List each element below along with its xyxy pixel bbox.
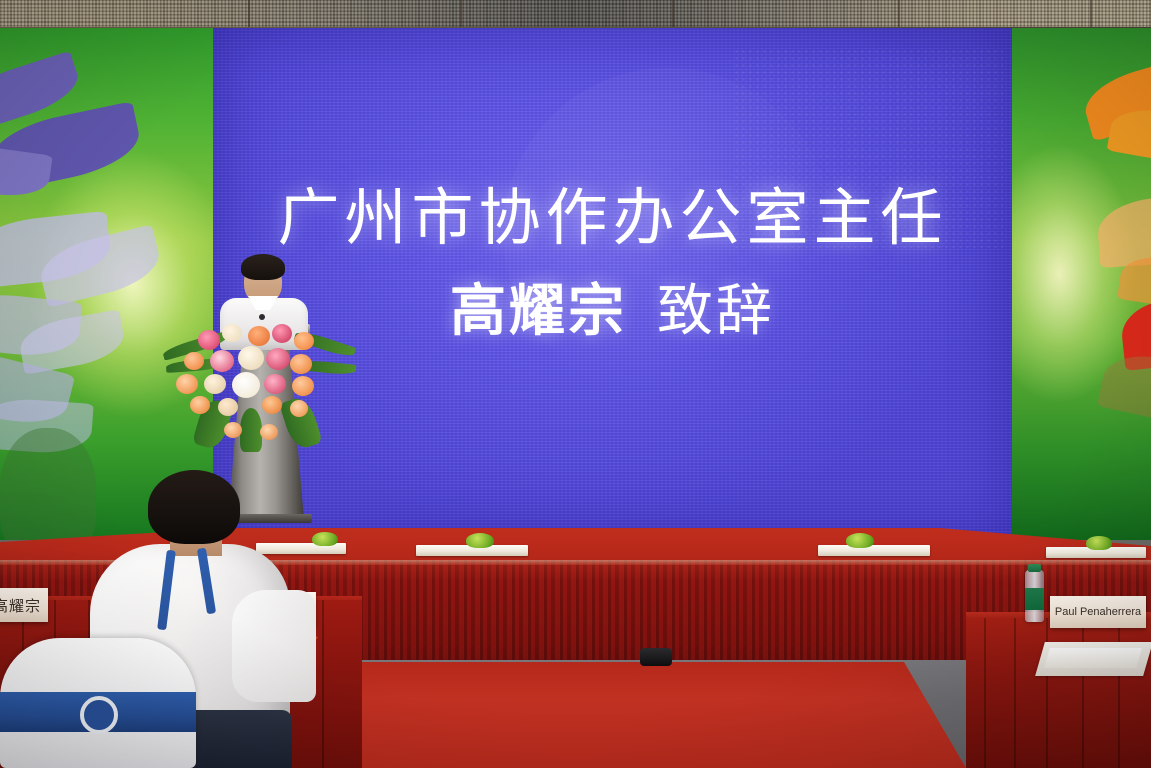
stage-plant — [466, 533, 494, 548]
speaker-hair — [241, 254, 285, 280]
name-card-right-text: Paul Penaherrera — [1055, 606, 1141, 618]
stage-plant — [846, 533, 874, 548]
backdrop-panel-right — [1010, 28, 1151, 540]
stage-floor-object — [640, 648, 672, 666]
led-screen: 广州市协作办公室主任 高耀宗致辞 — [213, 28, 1012, 538]
water-bottle — [1025, 570, 1044, 622]
chair-sash-ring — [80, 696, 118, 734]
name-card-right: Paul Penaherrera — [1050, 596, 1146, 628]
name-card-left: 高耀宗 — [0, 588, 48, 622]
seated-attendee-hair — [148, 470, 240, 544]
foreground-table-right — [966, 618, 1151, 768]
name-card-left-text: 高耀宗 — [0, 595, 41, 616]
floral-arrangement — [162, 316, 352, 448]
stage-placard — [818, 545, 930, 556]
screen-title-text: 广州市协作办公室主任 — [213, 188, 1012, 250]
seated-attendee-arm — [232, 590, 316, 702]
screen-action-text: 致辞 — [657, 279, 775, 342]
bottle-label — [1025, 588, 1044, 610]
seated-attendee — [82, 470, 332, 768]
table-papers-right-sheet — [1044, 648, 1142, 668]
conference-stage-photo: 广州市协作办公室主任 高耀宗致辞 — [0, 0, 1151, 768]
screen-speaker-name: 高耀宗 — [450, 279, 627, 342]
ceiling-acoustic-panel — [0, 0, 1151, 30]
stage-plant — [1086, 536, 1112, 550]
bottle-cap — [1028, 564, 1041, 572]
backdrop-panel-left — [0, 28, 215, 540]
